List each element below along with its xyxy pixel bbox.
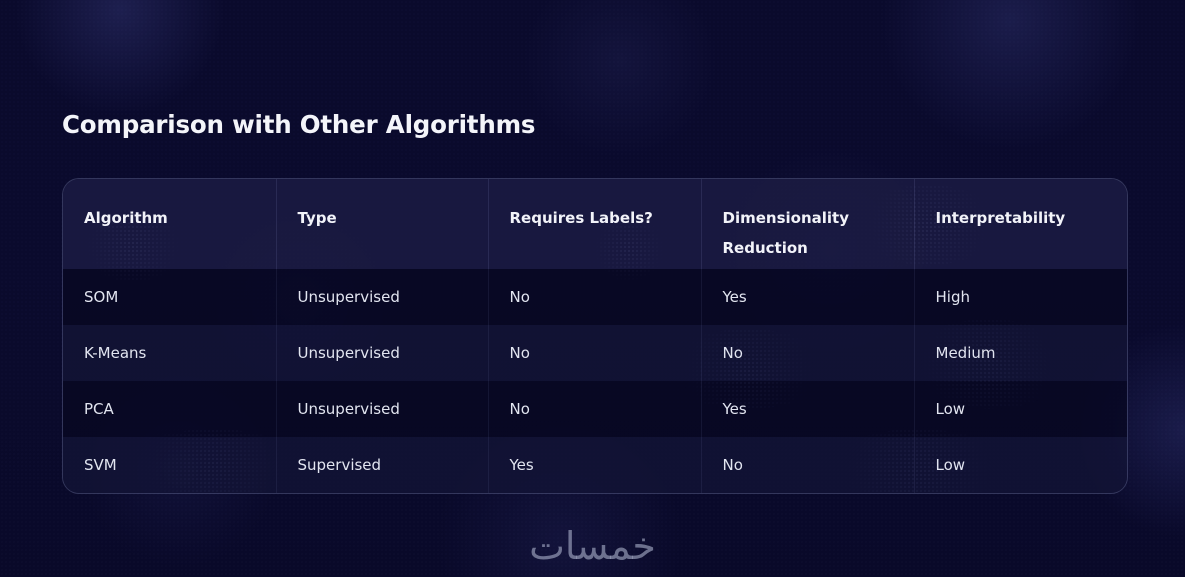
table-row: SOM Unsupervised No Yes High (63, 269, 1128, 325)
column-header-dimensionality-reduction[interactable]: Dimensionality Reduction (701, 179, 914, 269)
cell-dimensionality-reduction: No (701, 325, 914, 381)
cell-requires-labels: No (488, 325, 701, 381)
column-header-type[interactable]: Type (276, 179, 488, 269)
cell-algorithm: SOM (63, 269, 276, 325)
cell-interpretability: Low (914, 437, 1128, 493)
cell-interpretability: High (914, 269, 1128, 325)
table-header: Algorithm Type Requires Labels? Dimensio… (63, 179, 1128, 269)
cell-algorithm: PCA (63, 381, 276, 437)
column-header-algorithm[interactable]: Algorithm (63, 179, 276, 269)
table-row: SVM Supervised Yes No Low (63, 437, 1128, 493)
cell-requires-labels: Yes (488, 437, 701, 493)
watermark-text: خمسات (0, 524, 1185, 568)
cell-interpretability: Medium (914, 325, 1128, 381)
cell-type: Supervised (276, 437, 488, 493)
table-header-row: Algorithm Type Requires Labels? Dimensio… (63, 179, 1128, 269)
cell-algorithm: SVM (63, 437, 276, 493)
column-header-requires-labels[interactable]: Requires Labels? (488, 179, 701, 269)
cell-interpretability: Low (914, 381, 1128, 437)
cell-type: Unsupervised (276, 325, 488, 381)
table-body: SOM Unsupervised No Yes High K-Means Uns… (63, 269, 1128, 493)
cell-type: Unsupervised (276, 381, 488, 437)
cell-requires-labels: No (488, 269, 701, 325)
cell-dimensionality-reduction: No (701, 437, 914, 493)
comparison-table-card: Algorithm Type Requires Labels? Dimensio… (62, 178, 1128, 494)
page-title: Comparison with Other Algorithms (62, 110, 535, 139)
cell-type: Unsupervised (276, 269, 488, 325)
table-row: PCA Unsupervised No Yes Low (63, 381, 1128, 437)
comparison-table: Algorithm Type Requires Labels? Dimensio… (63, 179, 1128, 493)
page-content: Comparison with Other Algorithms Algorit… (0, 0, 1185, 577)
column-header-interpretability[interactable]: Interpretability (914, 179, 1128, 269)
cell-dimensionality-reduction: Yes (701, 269, 914, 325)
cell-dimensionality-reduction: Yes (701, 381, 914, 437)
table-row: K-Means Unsupervised No No Medium (63, 325, 1128, 381)
cell-requires-labels: No (488, 381, 701, 437)
cell-algorithm: K-Means (63, 325, 276, 381)
